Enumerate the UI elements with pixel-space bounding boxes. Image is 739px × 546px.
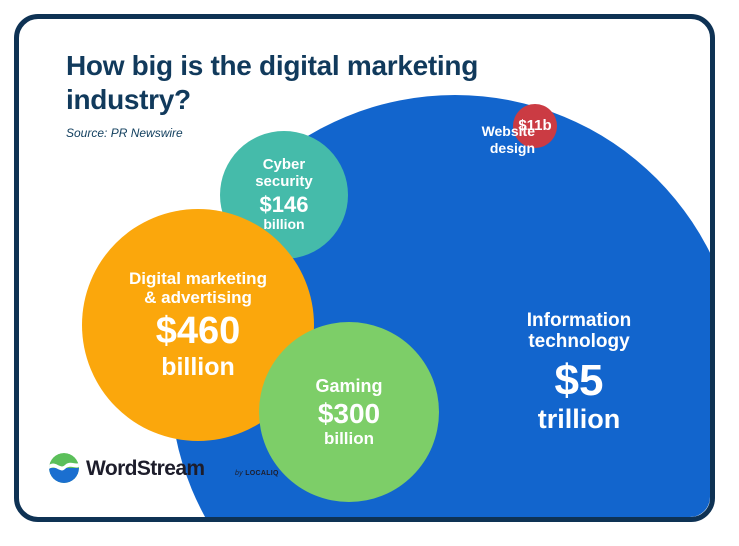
bubble-information-technology-text: Information technology $5 trillion <box>474 311 684 435</box>
bubble-gaming-amount: $300 <box>315 398 382 429</box>
wordstream-logo: WordStream by LOCALIQ <box>49 453 279 483</box>
wordstream-brand-name: WordStream <box>86 457 204 480</box>
bubble-information-technology-label: Information technology <box>527 310 632 352</box>
bubble-gaming: Gaming $300 billion <box>259 322 439 502</box>
bubble-gaming-text: Gaming $300 billion <box>315 376 382 449</box>
wordstream-logo-text: WordStream by LOCALIQ <box>86 458 279 479</box>
bubble-digital-marketing-label-line1: Digital marketing <box>129 269 267 288</box>
bubble-information-technology-amount: $5 <box>474 357 684 405</box>
bubble-digital-marketing-unit: billion <box>129 353 267 381</box>
infographic-canvas: Cyber security $146 billion Digital mark… <box>0 0 739 546</box>
wordstream-parent-name: LOCALIQ <box>245 470 279 477</box>
wordstream-parent-line: by LOCALIQ <box>235 470 279 477</box>
bubble-cyber-security-text: Cyber security $146 billion <box>255 157 313 233</box>
bubble-digital-marketing-amount: $460 <box>129 310 267 353</box>
wordstream-logo-icon <box>49 453 79 483</box>
wordstream-by-word: by <box>235 470 243 477</box>
bubble-digital-marketing-text: Digital marketing & advertising $460 bil… <box>129 269 267 381</box>
bubble-cyber-security-amount: $146 <box>255 193 313 218</box>
bubble-digital-marketing-label-line2: & advertising <box>129 288 267 307</box>
source-note: Source: PR Newswire <box>66 126 486 140</box>
bubble-website-design-label-line2: design <box>490 140 535 156</box>
bubble-gaming-label: Gaming <box>315 376 382 396</box>
header: How big is the digital marketing industr… <box>66 49 486 140</box>
bubble-cyber-security-label-line2: security <box>255 174 313 191</box>
page-title: How big is the digital marketing industr… <box>66 49 486 116</box>
bubble-gaming-unit: billion <box>315 429 382 448</box>
bubble-website-design-label-line1: Website <box>482 123 535 139</box>
infographic-inner-area: Cyber security $146 billion Digital mark… <box>19 19 710 517</box>
bubble-cyber-security-label-line1: Cyber <box>255 157 313 174</box>
bubble-information-technology-unit: trillion <box>474 405 684 435</box>
